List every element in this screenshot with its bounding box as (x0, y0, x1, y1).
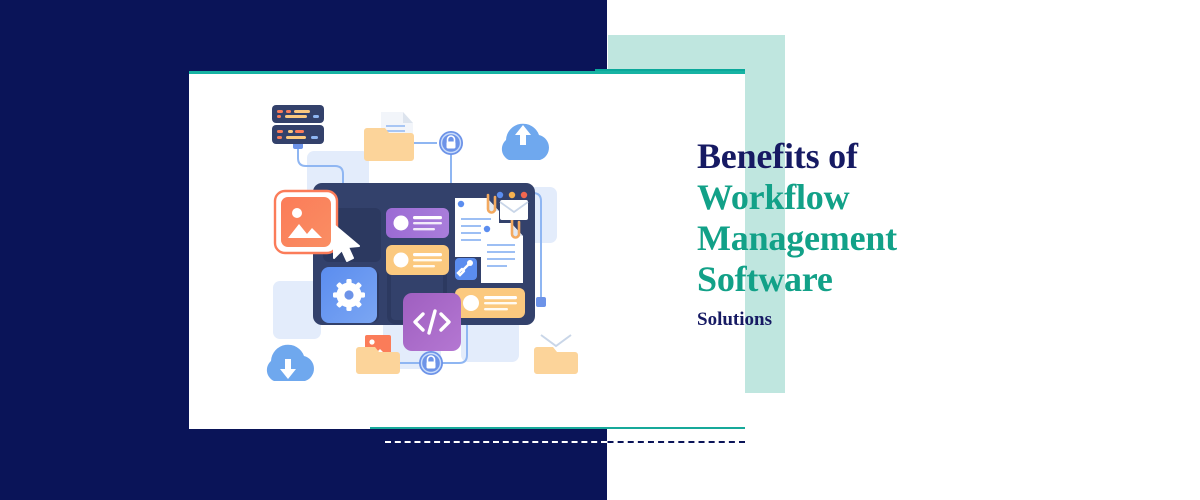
folder-document-icon (364, 112, 414, 161)
lock-node-icon-bottom (419, 351, 443, 375)
image-tile-icon (275, 191, 337, 253)
lock-node-icon-top (439, 131, 463, 155)
list-pill-amber (386, 245, 449, 275)
list-pill-amber-2 (455, 288, 525, 318)
headline-line-2: Workflow (697, 177, 1167, 218)
teal-rule-bottom (370, 427, 745, 429)
cloud-download-icon (267, 345, 314, 381)
server-rack-icon (272, 105, 324, 144)
workflow-management-illustration (255, 95, 585, 405)
page-root: Benefits of Workflow Management Software… (0, 0, 1200, 500)
headline-subtitle: Solutions (697, 309, 772, 331)
cloud-upload-icon (502, 124, 549, 160)
code-tile-icon (403, 293, 461, 351)
headline-line-3: Management (697, 218, 1167, 259)
headline-line-4: Software (697, 259, 1167, 300)
gear-tile-icon (321, 267, 377, 323)
dashed-rule-white (385, 441, 607, 443)
envelope-icon (500, 200, 528, 220)
headline-line-1: Benefits of (697, 136, 1167, 177)
list-pill-purple (386, 208, 449, 238)
window-dots (497, 192, 527, 198)
folder-envelope-icon (534, 333, 578, 374)
page-title: Benefits of Workflow Management Software (697, 136, 1167, 300)
wrench-tile-icon (455, 258, 477, 280)
